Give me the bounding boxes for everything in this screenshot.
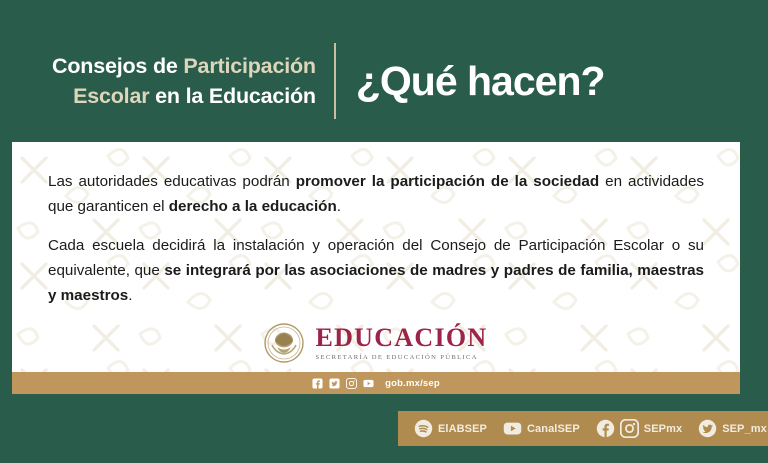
paragraph-2: Cada escuela decidirá la instalación y o… [48, 234, 704, 308]
header-banner: Consejos de Participación Escolar en la … [0, 0, 768, 140]
sep-logo-title: EDUCACIÓN [315, 325, 487, 351]
social-item-youtube[interactable]: CanalSEP [495, 419, 588, 438]
title-part-educacion: en la Educación [149, 84, 315, 108]
title-line-2: Escolar en la Educación [52, 81, 316, 111]
youtube-icon[interactable] [363, 378, 374, 389]
spotify-icon [414, 419, 433, 438]
social-label-twitter: SEP_mx [722, 423, 767, 435]
p1-bold1: promover la participación de la sociedad [296, 173, 599, 190]
twitter-icon [698, 419, 717, 438]
header-inner: Consejos de Participación Escolar en la … [52, 43, 605, 119]
p1-part3: . [337, 198, 341, 215]
instagram-icon [620, 419, 639, 438]
sep-logo-text: EDUCACIÓN SECRETARÍA DE EDUCACIÓN PÚBLIC… [315, 325, 487, 361]
title-part-participacion: Participación [183, 54, 315, 78]
p1-bold2: derecho a la educación [169, 198, 337, 215]
body-text: Las autoridades educativas podrán promov… [12, 142, 740, 308]
bottom-social-strip: ElABSEP CanalSEP SEPmx [398, 411, 768, 446]
paragraph-1: Las autoridades educativas podrán promov… [48, 170, 704, 219]
instagram-icon[interactable] [346, 378, 357, 389]
facebook-icon[interactable] [312, 378, 323, 389]
title-line-1: Consejos de Participación [52, 51, 316, 81]
title-part-consejos: Consejos de [52, 54, 183, 78]
poster-root: Consejos de Participación Escolar en la … [0, 0, 768, 463]
content-panel: Las autoridades educativas podrán promov… [12, 142, 740, 394]
social-item-spotify[interactable]: ElABSEP [406, 419, 495, 438]
mexican-coat-of-arms-emblem [264, 323, 304, 363]
sep-logo-subtitle: SECRETARÍA DE EDUCACIÓN PÚBLICA [315, 354, 487, 361]
p1-part1: Las autoridades educativas podrán [48, 173, 296, 190]
sep-logo: EDUCACIÓN SECRETARÍA DE EDUCACIÓN PÚBLIC… [12, 323, 740, 363]
facebook-icon [596, 419, 615, 438]
gob-mx-url[interactable]: gob.mx/sep [385, 378, 440, 389]
gold-social-bar: gob.mx/sep [12, 372, 740, 394]
social-item-twitter[interactable]: SEP_mx [690, 419, 768, 438]
page-title: Consejos de Participación Escolar en la … [52, 51, 334, 111]
social-label-sepmx: SEPmx [644, 423, 682, 435]
social-label-spotify: ElABSEP [438, 423, 487, 435]
social-label-youtube: CanalSEP [527, 423, 580, 435]
p2-part2: . [128, 287, 132, 304]
title-part-escolar: Escolar [73, 84, 149, 108]
twitter-icon[interactable] [329, 378, 340, 389]
youtube-icon [503, 419, 522, 438]
header-question: ¿Qué hacen? [336, 61, 605, 102]
social-item-facebook-instagram[interactable]: SEPmx [588, 419, 690, 438]
